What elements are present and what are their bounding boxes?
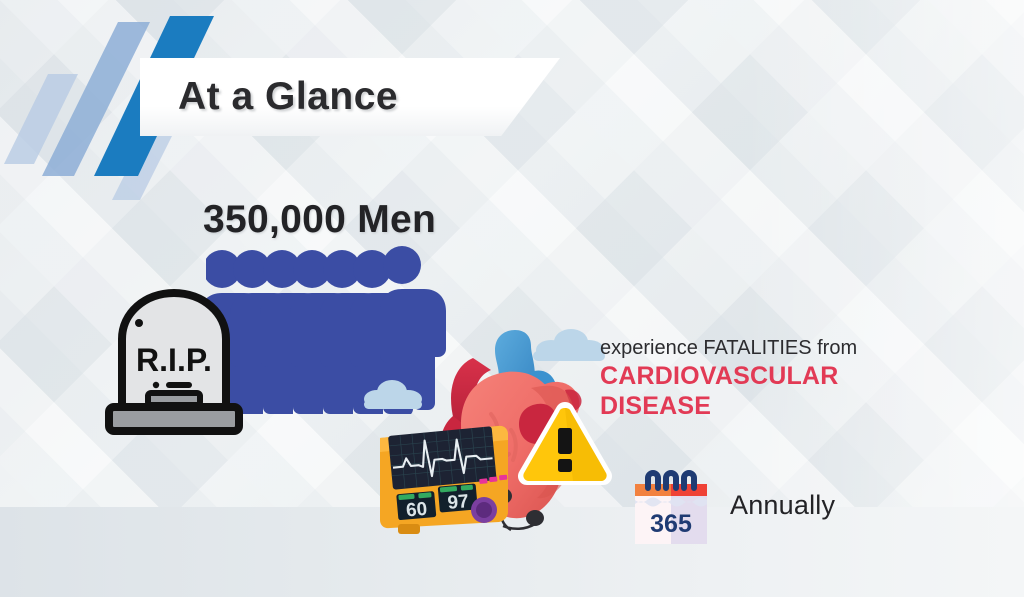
calendar-icon: 365: [629, 470, 713, 546]
gravestone-icon: R.I.P.: [104, 281, 244, 437]
calendar-day-number: 365: [650, 510, 692, 538]
message-line-1: experience FATALITIES from: [600, 335, 930, 362]
gravestone-inscription: R.I.P.: [136, 342, 212, 378]
stat-number-label: 350,000 Men: [203, 198, 436, 242]
warning-exclamation-dot: [558, 459, 572, 472]
ecg-monitor-icon: 60 97: [374, 424, 514, 536]
fatalities-message: experience FATALITIES from CARDIOVASCULA…: [600, 335, 930, 421]
monitor-heart-rate-value: 60: [405, 499, 428, 522]
page-title: At a Glance: [178, 75, 398, 119]
warning-exclamation-bar: [558, 428, 572, 454]
header-banner: At a Glance: [140, 58, 560, 136]
infographic-canvas: At a Glance 350,000 Men: [0, 0, 1024, 597]
monitor-spo2-value: 97: [447, 491, 470, 514]
message-line-2b: DISEASE: [600, 392, 930, 422]
message-line-2a: CARDIOVASCULAR: [600, 362, 930, 392]
period-label: Annually: [730, 490, 835, 521]
cloud-icon-left: [358, 378, 428, 412]
